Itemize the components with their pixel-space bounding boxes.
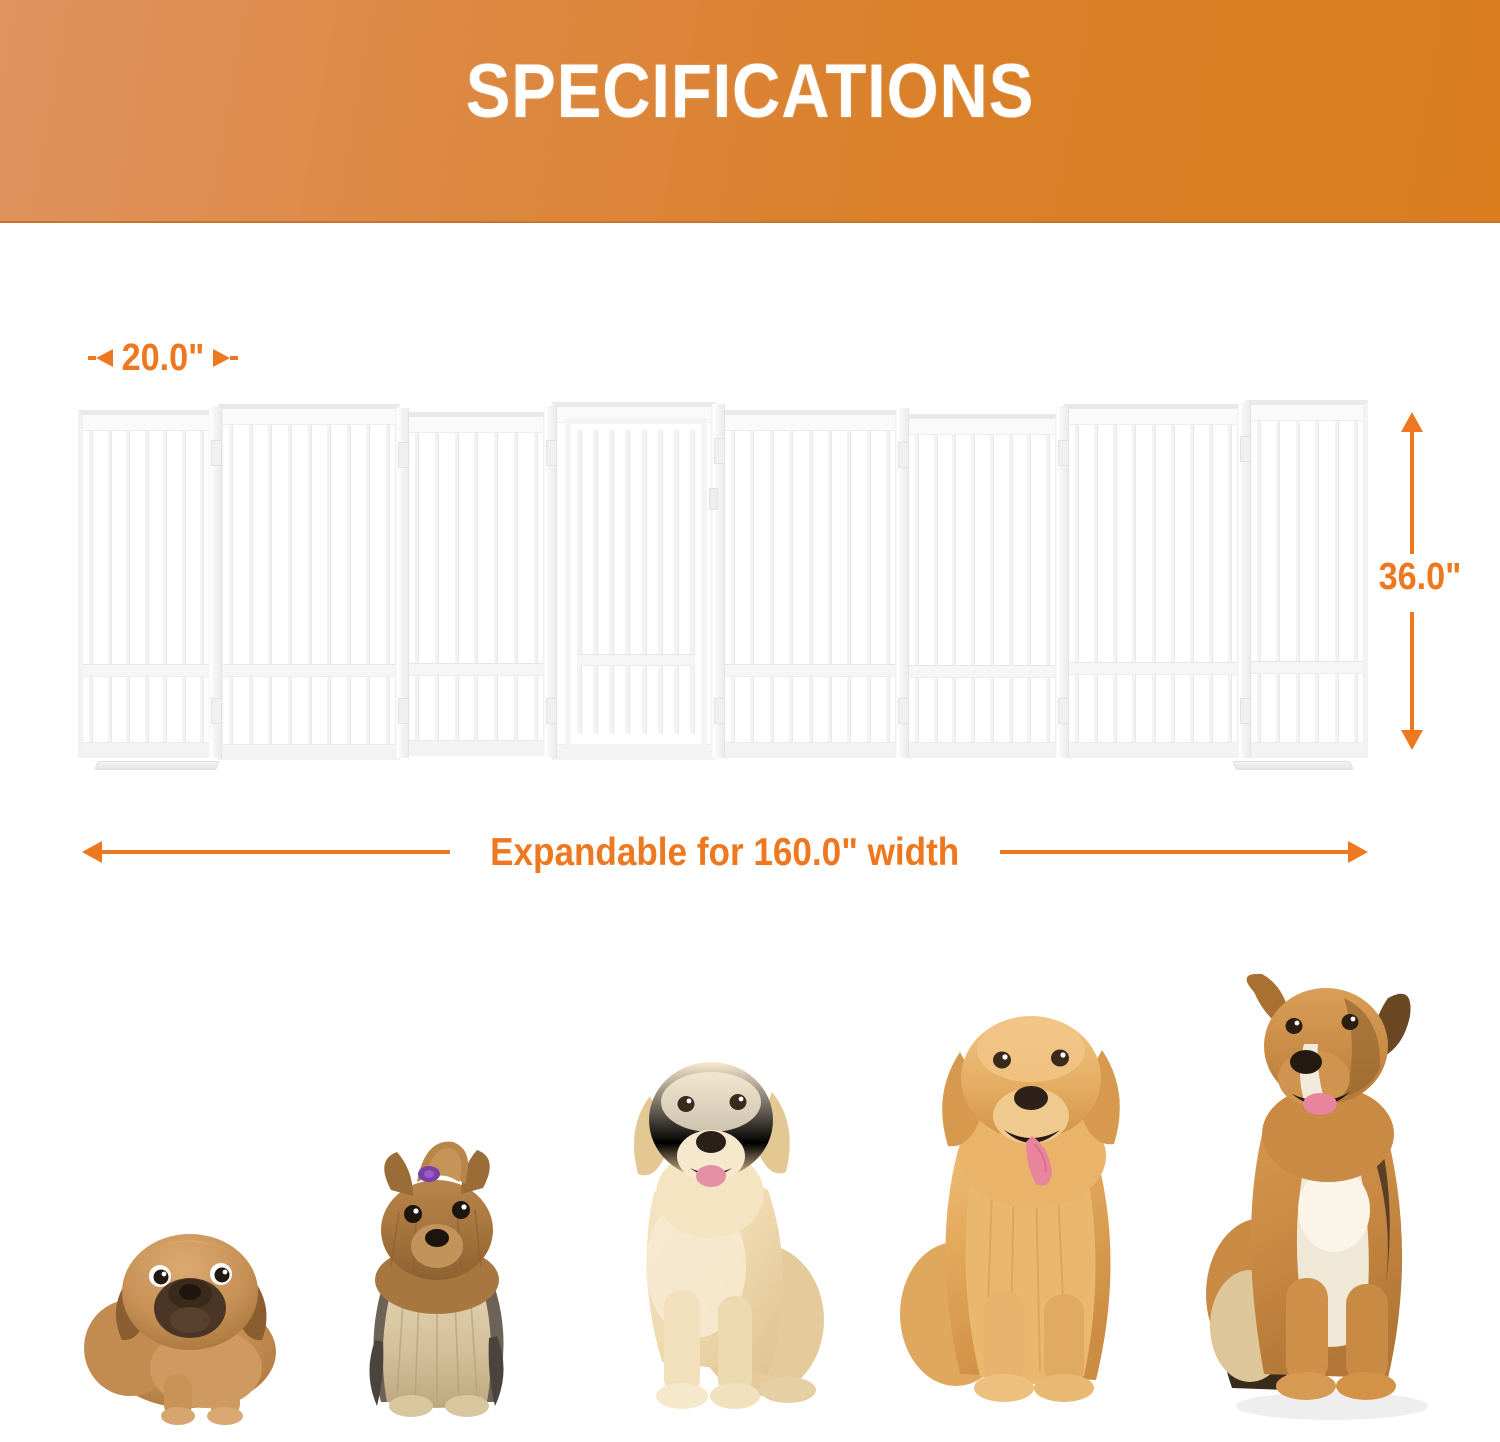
gate-panel-7: [1064, 404, 1242, 758]
arrow-down-icon: [1401, 730, 1423, 750]
panel-middle-rail: [223, 664, 395, 677]
gate-hinge-7: [1238, 402, 1251, 758]
panel-top-rail: [223, 409, 395, 425]
gate-hinge-3: [544, 406, 557, 758]
panel-slats: [914, 435, 1050, 742]
dimension-line-top: [1410, 430, 1414, 554]
dog-yellow-labrador: [592, 1044, 842, 1424]
support-foot-right: [1232, 761, 1354, 770]
arrow-left-icon: [96, 349, 113, 367]
panel-middle-rail: [725, 664, 895, 677]
panel-bottom-rail: [909, 742, 1055, 753]
panel-top-rail: [1251, 405, 1363, 421]
gate-hinge-5: [896, 408, 909, 758]
panel-middle-rail: [909, 665, 1055, 678]
hinge-plate-icon: [398, 698, 409, 724]
hinge-plate-icon: [898, 698, 909, 724]
hinge-plate-icon: [898, 442, 909, 468]
arrow-right-icon: [1348, 841, 1368, 863]
panel-width-label: 20.0": [118, 339, 208, 377]
gate-panel-1: [78, 410, 214, 758]
gate-hinge-2: [396, 408, 409, 758]
hinge-plate-icon: [1240, 436, 1251, 462]
dog-size-comparison: [0, 930, 1500, 1442]
dimension-line-right: [1000, 850, 1348, 854]
gate-height-dimension: 36.0": [1382, 412, 1500, 752]
gate-height-label: 36.0": [1379, 558, 1462, 596]
total-width-label: Expandable for 160.0" width: [478, 833, 972, 872]
panel-middle-rail: [83, 664, 209, 677]
panel-slats: [1256, 421, 1358, 742]
dog-shepherd-mix: [1192, 958, 1454, 1424]
gate-hinge-1: [209, 406, 222, 758]
gate-panel-5: [720, 410, 900, 758]
dimension-line-bottom: [1410, 612, 1414, 732]
door-slats: [577, 430, 695, 734]
panel-slats: [414, 433, 538, 740]
hinge-plate-icon: [546, 698, 557, 724]
pekingese-svg: [78, 1224, 318, 1424]
panel-bottom-rail: [1069, 742, 1237, 753]
specifications-page: SPECIFICATIONS 20.0": [0, 0, 1500, 1442]
gate-panel-3: [404, 412, 548, 756]
panel-slats: [730, 431, 890, 742]
panel-middle-rail: [1251, 661, 1363, 674]
hinge-plate-icon: [211, 440, 222, 466]
panel-slats: [228, 425, 390, 744]
dog-pekingese-puppy: [78, 1224, 318, 1424]
dimension-line-left: [102, 850, 450, 854]
dimension-tick-left: [88, 356, 96, 360]
arrow-right-icon: [213, 349, 230, 367]
page-title: SPECIFICATIONS: [90, 54, 1410, 130]
panel-top-rail: [83, 415, 209, 431]
panel-middle-rail: [1069, 662, 1237, 675]
panel-bottom-rail: [725, 742, 895, 753]
dog-golden-retriever: [898, 994, 1166, 1424]
door-latch-icon[interactable]: [709, 488, 718, 510]
panel-top-rail: [725, 415, 895, 431]
arrow-up-icon: [1401, 412, 1423, 432]
panel-bottom-rail: [223, 744, 395, 755]
gate-hinge-4: [712, 404, 725, 758]
panel-bottom-rail: [1251, 742, 1363, 753]
panel-top-rail: [1069, 409, 1237, 425]
panel-bottom-rail: [83, 742, 209, 753]
total-width-dimension: Expandable for 160.0" width: [82, 822, 1368, 882]
dimension-tick-right: [230, 356, 238, 360]
hinge-plate-icon: [1058, 440, 1069, 466]
gate-panel-4-walk-through-door[interactable]: [552, 402, 716, 760]
dog-yorkshire-terrier: [325, 1134, 545, 1424]
shepherd-mix-svg: [1192, 958, 1454, 1424]
walk-through-door[interactable]: [565, 418, 707, 750]
hinge-plate-icon: [1058, 698, 1069, 724]
hinge-plate-icon: [714, 438, 725, 464]
header-banner: SPECIFICATIONS: [0, 0, 1500, 223]
panel-bottom-rail: [409, 740, 543, 751]
panel-top-rail: [909, 419, 1055, 435]
panel-slats: [88, 431, 204, 742]
hinge-plate-icon: [546, 440, 557, 466]
hinge-plate-icon: [398, 442, 409, 468]
hinge-plate-icon: [211, 698, 222, 724]
gate-panel-6: [904, 414, 1060, 758]
panel-width-dimension: 20.0": [68, 330, 258, 386]
yorkshire-terrier-svg: [325, 1134, 545, 1424]
panel-slats: [1074, 425, 1232, 742]
door-middle-rail: [577, 654, 695, 666]
gate-hinge-6: [1056, 406, 1069, 758]
arrow-left-icon: [82, 841, 102, 863]
panel-middle-rail: [409, 663, 543, 676]
hinge-plate-icon: [1240, 698, 1251, 724]
gate-panel-2: [218, 404, 400, 760]
panel-top-rail: [409, 417, 543, 433]
golden-retriever-svg: [898, 994, 1166, 1424]
support-foot-left: [94, 761, 220, 770]
yellow-labrador-svg: [592, 1044, 842, 1424]
pet-gate-illustration: [78, 400, 1368, 760]
hinge-plate-icon: [714, 698, 725, 724]
gate-panel-8: [1246, 400, 1368, 758]
